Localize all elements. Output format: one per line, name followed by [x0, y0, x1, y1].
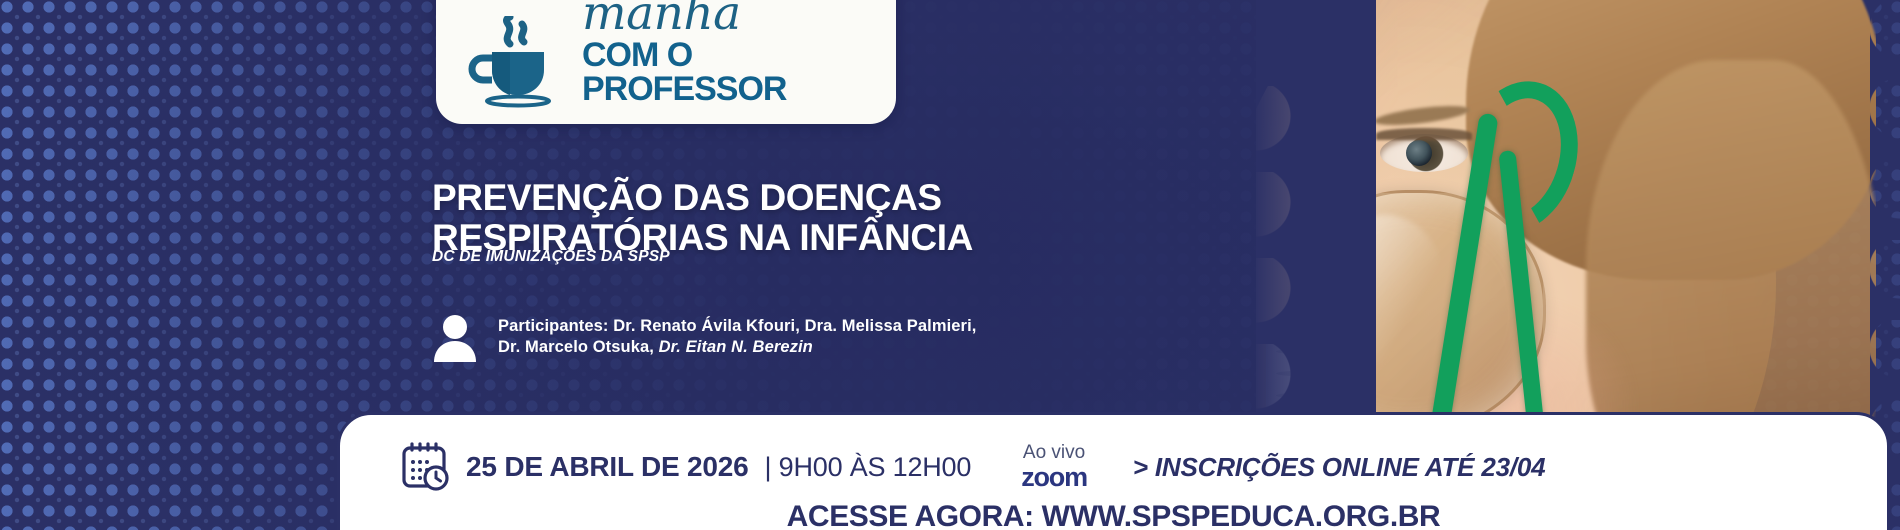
logo-text-block: Café da manhã COM O PROFESSOR	[582, 0, 870, 108]
event-date: 25 DE ABRIL DE 2026	[466, 451, 749, 483]
registration-deadline: > INSCRIÇÕES ONLINE ATÉ 23/04	[1133, 452, 1545, 483]
child-eyelash	[1376, 128, 1472, 140]
calendar-clock-icon	[400, 442, 450, 492]
participants-line-2-plain: Dr. Marcelo Otsuka,	[498, 338, 659, 356]
zoom-logo-text: zoom	[1021, 464, 1087, 491]
person-icon	[430, 312, 480, 362]
live-label: Ao vivo	[1023, 443, 1085, 462]
zoom-platform-badge: Ao vivo zoom	[1021, 443, 1087, 491]
participants-line-2-italic: Dr. Eitan N. Berezin	[659, 338, 813, 356]
event-info-card: 25 DE ABRIL DE 2026 | 9H00 ÀS 12H00 Ao v…	[337, 412, 1890, 530]
cta-url[interactable]: ACESSE AGORA: WWW.SPSPEDUCA.ORG.BR	[340, 500, 1887, 530]
logo-title-line2: COM O PROFESSOR	[582, 38, 870, 106]
participants-text: Participantes: Dr. Renato Ávila Kfouri, …	[498, 316, 976, 358]
participants-block: Participantes: Dr. Renato Ávila Kfouri, …	[430, 312, 976, 362]
logo-title-line1: Café da manhã	[582, 0, 870, 37]
child-pupil	[1406, 140, 1432, 166]
participants-line-2: Dr. Marcelo Otsuka, Dr. Eitan N. Berezin	[498, 337, 976, 358]
event-logo-card: Café da manhã COM O PROFESSOR	[436, 0, 896, 124]
participants-line-1: Participantes: Dr. Renato Ávila Kfouri, …	[498, 316, 976, 337]
event-details-row: 25 DE ABRIL DE 2026 | 9H00 ÀS 12H00 Ao v…	[400, 442, 1545, 492]
headline-line-1: PREVENÇÃO DAS DOENÇAS	[432, 178, 1152, 218]
headline-subtitle: DC DE IMUNIZAÇÕES DA SPSP	[432, 248, 670, 266]
page-title: PREVENÇÃO DAS DOENÇAS RESPIRATÓRIAS NA I…	[432, 178, 1152, 257]
coffee-cup-icon	[462, 16, 566, 108]
event-time: | 9H00 ÀS 12H00	[765, 452, 972, 483]
event-banner: Café da manhã COM O PROFESSOR PREVENÇÃO …	[0, 0, 1900, 530]
